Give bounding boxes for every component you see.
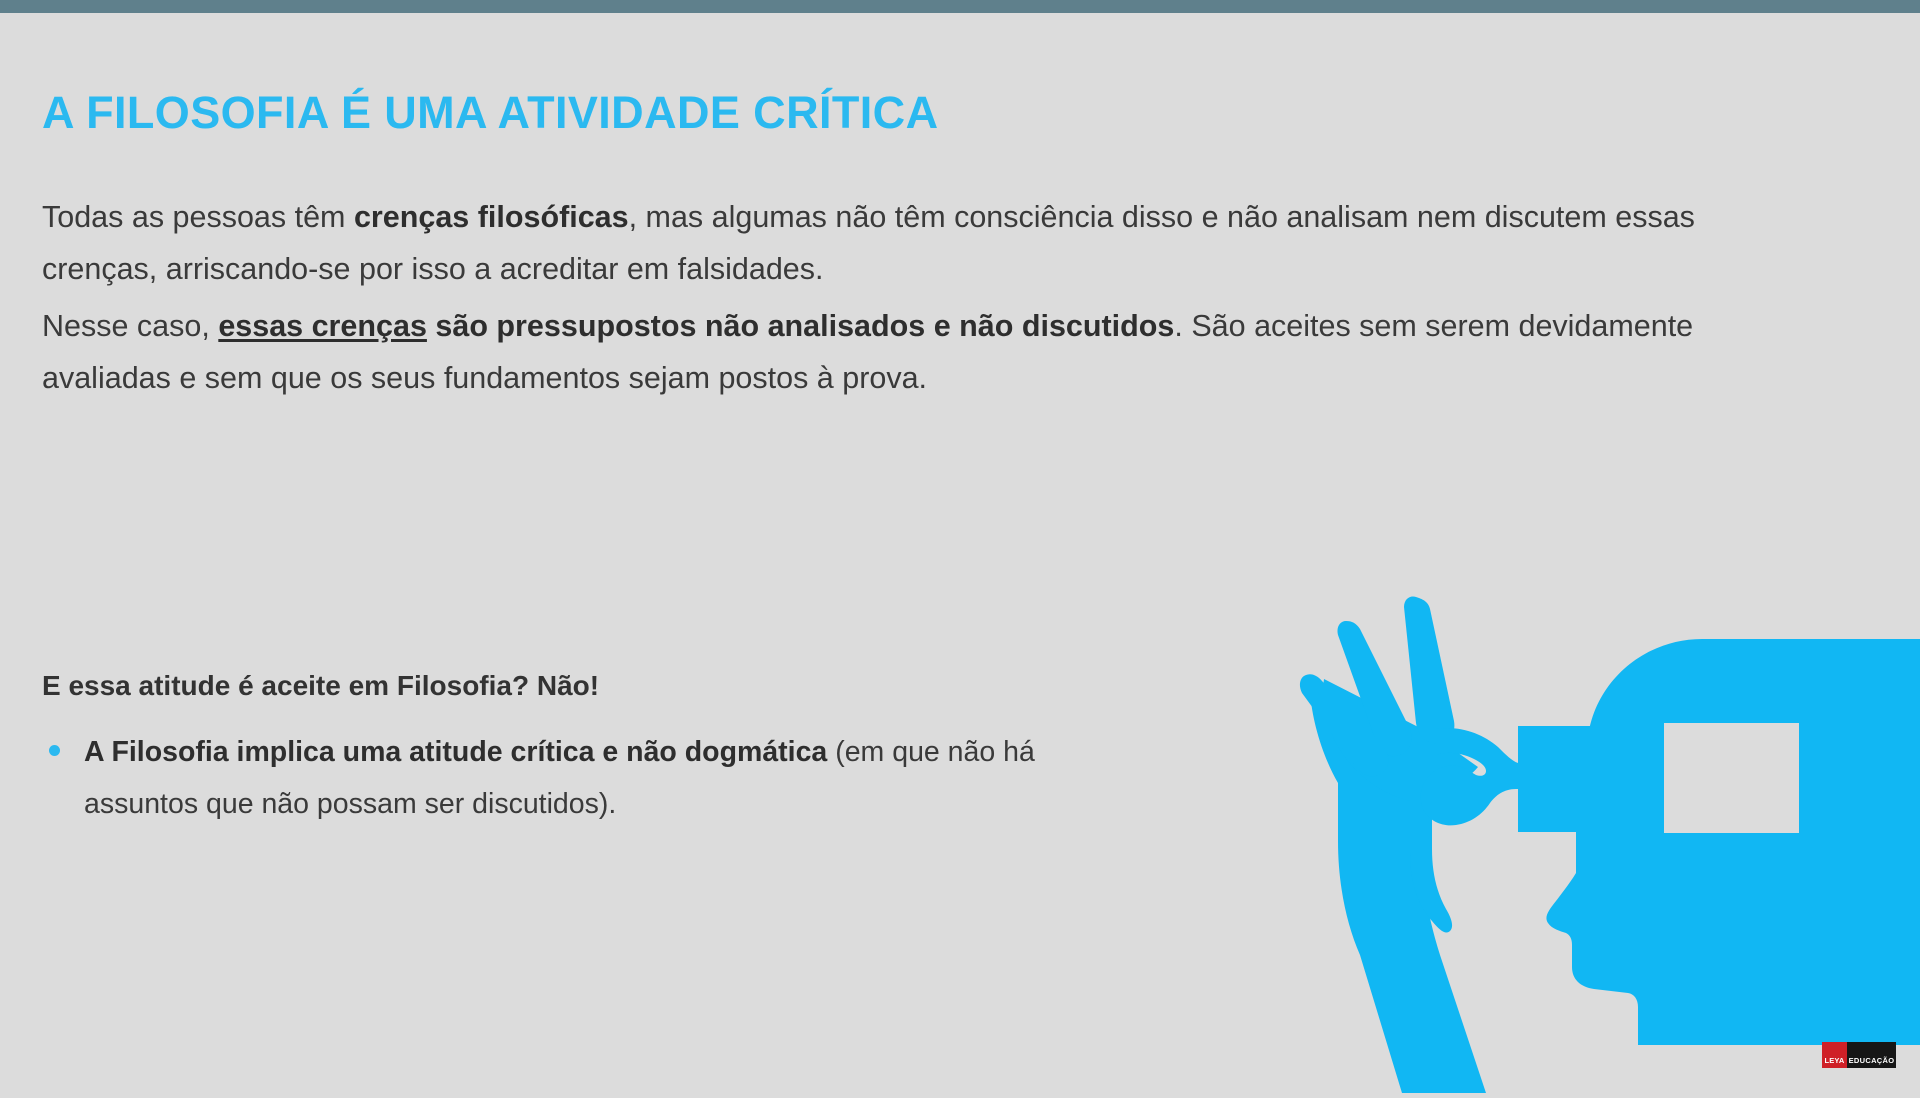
logo-mark-text: LEYA [1822,1042,1847,1068]
page-title: A FILOSOFIA É UMA ATIVIDADE CRÍTICA [42,88,1342,138]
top-accent-bar [0,0,1920,13]
body-text-block: Todas as pessoas têm crenças filosóficas… [42,191,1782,409]
question-heading: E essa atitude é aceite em Filosofia? Nã… [42,668,1142,704]
bullet-dot-icon [49,745,60,756]
head-with-telescope-illustration [1290,583,1920,1093]
publisher-logo: LEYA EDUCAÇÃO [1822,1042,1896,1068]
viewfinder-lens-shape [1664,723,1799,833]
paragraph-1-run-2-bold: crenças filosóficas [354,200,629,234]
paragraph-1-run-1: Todas as pessoas têm [42,200,354,234]
list-item: A Filosofia implica uma atitude crítica … [42,727,1102,831]
paragraph-2: Nesse caso, essas crenças são pressupost… [42,300,1782,405]
slide-surface: A FILOSOFIA É UMA ATIVIDADE CRÍTICA Toda… [0,13,1920,1080]
illustration-svg [1290,583,1920,1093]
paragraph-2-run-3-bold: são pressupostos não analisados e não di… [427,309,1174,343]
paragraph-1: Todas as pessoas têm crenças filosóficas… [42,191,1782,296]
head-silhouette-shape [1546,639,1920,1045]
pinch-nub-shape [1510,765,1532,789]
bullet-1-run-1-bold: A Filosofia implica uma atitude crítica … [84,736,827,768]
index-finger-shape [1404,596,1454,743]
paragraph-2-run-2-bold-underline: essas crenças [218,309,427,343]
logo-word-text: EDUCAÇÃO [1847,1042,1896,1068]
bullet-list: A Filosofia implica uma atitude crítica … [42,727,1102,831]
paragraph-2-run-1: Nesse caso, [42,309,218,343]
